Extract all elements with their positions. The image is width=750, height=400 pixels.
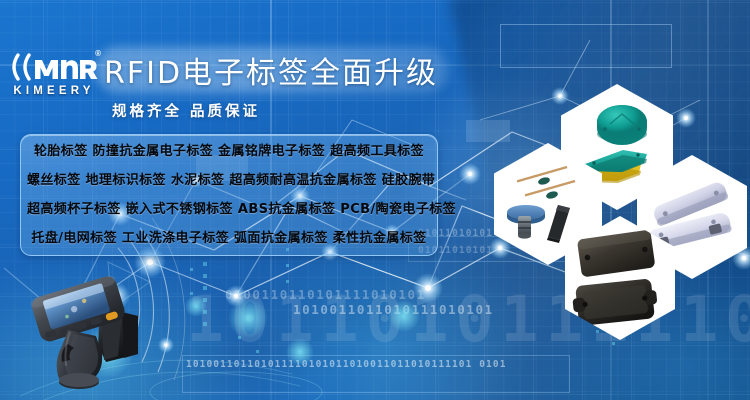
tag-list-row: 轮胎标签 防撞抗金属电子标签 金属铭牌电子标签 超高频工具标签: [27, 137, 431, 166]
kimeery-logo[interactable]: ® KIMEERY: [8, 50, 100, 108]
tag-list-row: 托盘/电网标签 工业洗涤电子标签 弧面抗金属标签 柔性抗金属标签: [27, 224, 431, 253]
logo-mark: ®: [8, 50, 100, 84]
logo-wordmark: KIMEERY: [8, 85, 100, 97]
handheld-uhf-rfid-reader: [26, 272, 154, 394]
page-subtitle: 规格齐全 品质保证: [112, 100, 260, 121]
rfid-promo-banner: 10110101111101 0100110110101111010101 10…: [0, 0, 750, 400]
page-title: RFID电子标签全面升级: [104, 48, 444, 92]
tag-list-row: 超高频杯子标签 嵌入式不锈钢标签 ABS抗金属标签 PCB/陶瓷电子标签: [27, 195, 431, 224]
tag-list-row: 螺丝标签 地理标识标签 水泥标签 超高频耐高温抗金属标签 硅胶腕带: [27, 166, 431, 195]
product-tag-list-panel: 轮胎标签 防撞抗金属电子标签 金属铭牌电子标签 超高频工具标签 螺丝标签 地理标…: [20, 134, 438, 256]
